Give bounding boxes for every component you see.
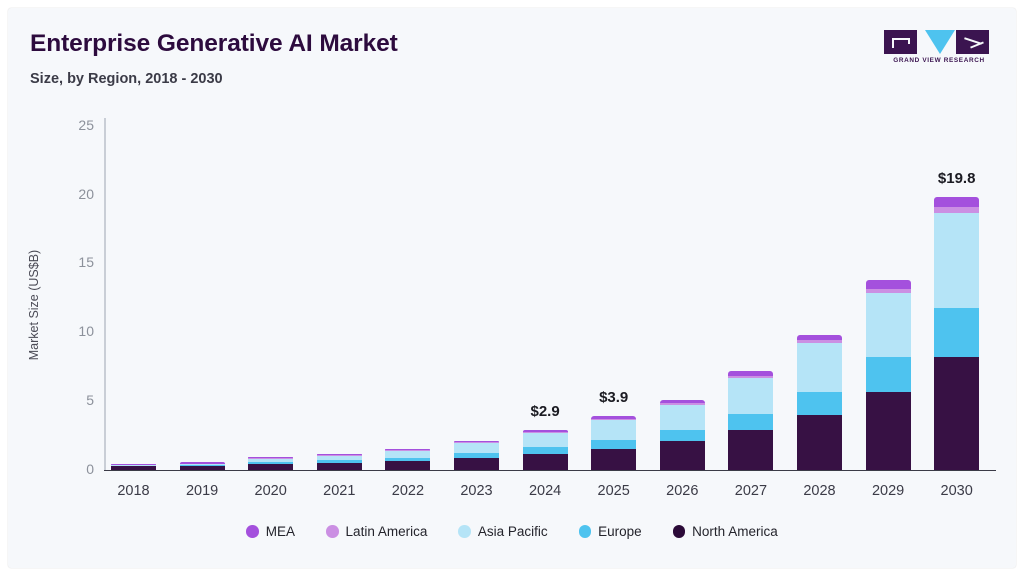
- y-axis-label: Market Size (US$B): [27, 195, 41, 415]
- y-tick-label: 20: [38, 186, 94, 202]
- bar-segment-north-america[interactable]: [111, 466, 156, 469]
- bar-segment-latin-america[interactable]: [454, 442, 499, 443]
- bar-2029[interactable]: [866, 126, 911, 470]
- bar-segment-europe[interactable]: [523, 447, 568, 453]
- x-tick-label: 2024: [511, 483, 580, 499]
- bar-2027[interactable]: [728, 126, 773, 470]
- bar-segment-mea[interactable]: [866, 280, 911, 289]
- bar-segment-asia-pacific[interactable]: [180, 464, 225, 465]
- bar-segment-europe[interactable]: [728, 414, 773, 430]
- legend-swatch-icon: [246, 525, 259, 538]
- legend-label: Latin America: [346, 524, 428, 539]
- legend-swatch-icon: [673, 525, 686, 538]
- y-tick-label: 5: [38, 392, 94, 408]
- bar-segment-mea[interactable]: [728, 371, 773, 376]
- bar-2028[interactable]: [797, 126, 842, 470]
- bar-segment-europe[interactable]: [797, 392, 842, 415]
- bar-segment-latin-america[interactable]: [660, 403, 705, 405]
- legend-item-asia-pacific[interactable]: Asia Pacific: [458, 524, 547, 539]
- bar-segment-north-america[interactable]: [317, 463, 362, 470]
- bar-segment-asia-pacific[interactable]: [934, 213, 979, 308]
- bar-segment-mea[interactable]: [317, 454, 362, 455]
- bar-segment-europe[interactable]: [866, 357, 911, 392]
- x-tick-label: 2028: [785, 483, 854, 499]
- x-tick-label: 2018: [99, 483, 168, 499]
- bar-segment-europe[interactable]: [660, 430, 705, 442]
- bar-segment-north-america[interactable]: [591, 449, 636, 470]
- x-tick-label: 2021: [305, 483, 374, 499]
- legend-item-mea[interactable]: MEA: [246, 524, 295, 539]
- bar-segment-mea[interactable]: [797, 335, 842, 340]
- bar-segment-asia-pacific[interactable]: [660, 405, 705, 430]
- bar-segment-mea[interactable]: [660, 400, 705, 403]
- x-tick-label: 2020: [236, 483, 305, 499]
- bar-segment-latin-america[interactable]: [866, 289, 911, 293]
- bar-segment-north-america[interactable]: [797, 415, 842, 469]
- x-tick-label: 2025: [579, 483, 648, 499]
- bar-segment-north-america[interactable]: [523, 454, 568, 470]
- chart-legend: MEALatin AmericaAsia PacificEuropeNorth …: [8, 524, 1016, 539]
- bar-segment-mea[interactable]: [111, 464, 156, 465]
- bar-segment-latin-america[interactable]: [591, 419, 636, 420]
- bar-segment-asia-pacific[interactable]: [523, 433, 568, 448]
- y-tick-label: 25: [38, 117, 94, 133]
- bar-2023[interactable]: [454, 126, 499, 470]
- data-label-2025: $3.9: [569, 389, 659, 406]
- bar-segment-europe[interactable]: [317, 460, 362, 462]
- y-tick-label: 15: [38, 254, 94, 270]
- bar-segment-mea[interactable]: [385, 449, 430, 450]
- bar-segment-mea[interactable]: [523, 430, 568, 432]
- bar-segment-asia-pacific[interactable]: [317, 456, 362, 461]
- bar-2018[interactable]: [111, 126, 156, 470]
- bar-segment-asia-pacific[interactable]: [248, 459, 293, 462]
- bar-segment-north-america[interactable]: [248, 464, 293, 470]
- legend-label: Europe: [598, 524, 642, 539]
- bar-segment-europe[interactable]: [934, 308, 979, 357]
- legend-swatch-icon: [458, 525, 471, 538]
- legend-swatch-icon: [326, 525, 339, 538]
- legend-swatch-icon: [579, 525, 592, 538]
- bar-segment-asia-pacific[interactable]: [385, 451, 430, 458]
- bar-chart-plot: Market Size (US$B) 0510152025 2018201920…: [8, 8, 1016, 568]
- legend-item-europe[interactable]: Europe: [579, 524, 642, 539]
- bar-segment-north-america[interactable]: [728, 430, 773, 469]
- x-axis-line: [104, 470, 996, 472]
- legend-label: Asia Pacific: [478, 524, 548, 539]
- bar-segment-europe[interactable]: [385, 458, 430, 461]
- x-tick-label: 2030: [922, 483, 991, 499]
- bar-2022[interactable]: [385, 126, 430, 470]
- bar-segment-asia-pacific[interactable]: [728, 378, 773, 414]
- legend-label: North America: [692, 524, 778, 539]
- bar-segment-europe[interactable]: [248, 462, 293, 464]
- bar-2025[interactable]: [591, 126, 636, 470]
- bar-segment-north-america[interactable]: [385, 461, 430, 470]
- bar-segment-latin-america[interactable]: [934, 207, 979, 212]
- bar-segment-latin-america[interactable]: [728, 376, 773, 378]
- bar-segment-north-america[interactable]: [660, 441, 705, 469]
- bar-2021[interactable]: [317, 126, 362, 470]
- bar-segment-latin-america[interactable]: [797, 340, 842, 343]
- y-tick-label: 0: [38, 461, 94, 477]
- x-tick-label: 2023: [442, 483, 511, 499]
- bar-2026[interactable]: [660, 126, 705, 470]
- chart-card: Enterprise Generative AI Market Size, by…: [8, 8, 1016, 568]
- x-tick-label: 2026: [648, 483, 717, 499]
- bar-segment-asia-pacific[interactable]: [591, 420, 636, 441]
- x-tick-label: 2022: [373, 483, 442, 499]
- bar-segment-asia-pacific[interactable]: [866, 293, 911, 357]
- y-axis-line: [104, 118, 106, 471]
- bar-segment-europe[interactable]: [591, 440, 636, 449]
- x-tick-label: 2027: [716, 483, 785, 499]
- x-tick-label: 2019: [168, 483, 237, 499]
- bar-segment-asia-pacific[interactable]: [454, 443, 499, 453]
- bar-segment-north-america[interactable]: [454, 458, 499, 470]
- x-tick-label: 2029: [854, 483, 923, 499]
- bar-segment-europe[interactable]: [454, 453, 499, 458]
- legend-label: MEA: [266, 524, 295, 539]
- legend-item-latin-america[interactable]: Latin America: [326, 524, 427, 539]
- y-tick-label: 10: [38, 323, 94, 339]
- bar-segment-north-america[interactable]: [180, 466, 225, 470]
- bar-2019[interactable]: [180, 126, 225, 470]
- bar-2020[interactable]: [248, 126, 293, 470]
- bar-segment-asia-pacific[interactable]: [797, 343, 842, 392]
- bar-segment-mea[interactable]: [934, 197, 979, 207]
- bar-segment-mea[interactable]: [180, 462, 225, 463]
- bar-segment-north-america[interactable]: [866, 392, 911, 470]
- bar-segment-mea[interactable]: [591, 416, 636, 419]
- legend-item-north-america[interactable]: North America: [673, 524, 778, 539]
- data-label-2030: $19.8: [912, 170, 1002, 187]
- bar-segment-north-america[interactable]: [934, 357, 979, 470]
